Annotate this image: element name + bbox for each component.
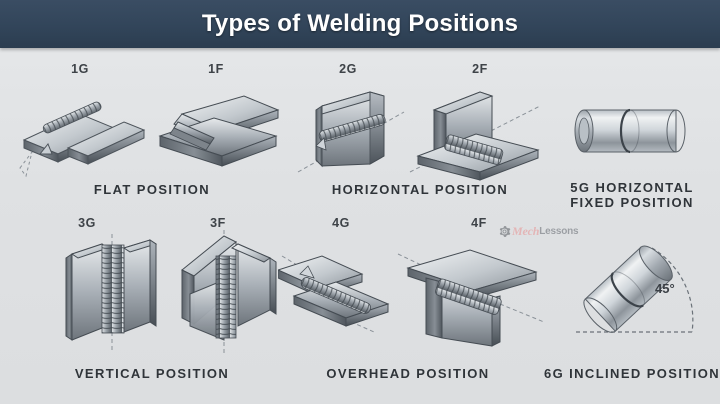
figure-3g-vertical-groove	[52, 232, 172, 356]
caption-horizontal-position: HORIZONTAL POSITION	[300, 182, 540, 197]
figure-tag-2g: 2G	[339, 62, 357, 76]
caption-vertical-position: VERTICAL POSITION	[42, 366, 262, 381]
watermark-brand-secondary: Lessons	[539, 226, 578, 237]
figure-tag-4f: 4F	[471, 216, 487, 230]
figure-tag-3g: 3G	[78, 216, 96, 230]
watermark-brand-primary: Mech	[512, 224, 539, 239]
page-title: Types of Welding Positions	[202, 10, 518, 38]
watermark-logo: Mech Lessons	[498, 224, 578, 239]
gear-icon	[498, 225, 511, 238]
header-bar: Types of Welding Positions	[0, 0, 720, 48]
caption-6g-inclined-position: 6G INCLINED POSITION	[542, 366, 720, 381]
infographic-canvas: Types of Welding Positions	[0, 0, 720, 404]
caption-flat-position: FLAT POSITION	[52, 182, 252, 197]
figure-1f-flat-fillet	[148, 84, 284, 184]
figure-3f-vertical-fillet	[160, 228, 288, 356]
figure-4f-overhead-fillet	[396, 238, 546, 348]
angle-label-45deg: 45°	[655, 281, 675, 296]
figure-1g-flat-groove	[18, 92, 148, 182]
figure-tag-2f: 2F	[472, 62, 488, 76]
figure-2g-horizontal-groove	[296, 84, 406, 184]
figure-tag-1g: 1G	[71, 62, 89, 76]
figure-2f-horizontal-fillet	[404, 84, 544, 184]
caption-overhead-position: OVERHEAD POSITION	[288, 366, 528, 381]
caption-5g-horizontal-fixed: 5G HORIZONTAL FIXED POSITION	[547, 180, 717, 210]
figure-6g-pipe-inclined	[566, 240, 706, 350]
figure-5g-pipe-horizontal	[566, 96, 694, 168]
figure-tag-4g: 4G	[332, 216, 350, 230]
figure-tag-1f: 1F	[208, 62, 224, 76]
